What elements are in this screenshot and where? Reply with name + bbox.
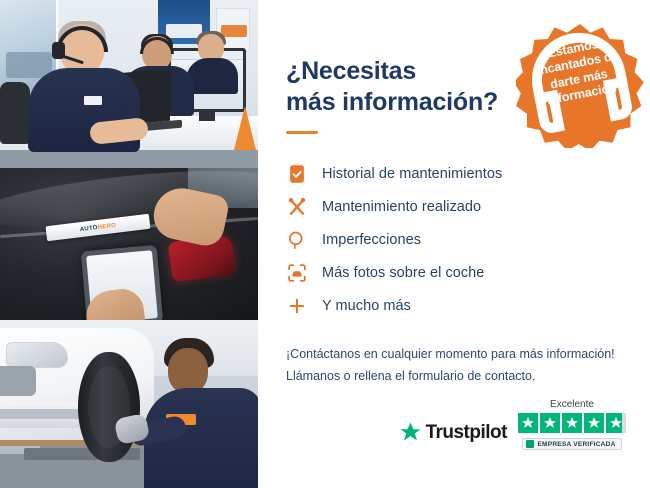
feature-list: Historial de mantenimientos Mantenimient… xyxy=(286,157,628,322)
agent-main-person xyxy=(28,24,140,150)
autohero-ruler-inspection-photo: AUTOHERO xyxy=(0,168,258,320)
promo-card: AUTOHERO ¿Necesitas xyxy=(0,0,650,488)
star-3 xyxy=(562,413,582,433)
feature-item-imperfections: Imperfecciones xyxy=(286,223,628,256)
tools-wrench-screwdriver-icon xyxy=(286,196,308,218)
ruler-brand-auto: AUTO xyxy=(79,225,98,233)
page-title: ¿Necesitas más información? xyxy=(286,56,501,117)
trustpilot-rating: Excelente xyxy=(518,399,626,450)
call-center-agents-photo xyxy=(0,0,258,168)
magnifier-icon xyxy=(286,229,308,251)
trustpilot-star-icon xyxy=(399,421,422,444)
feature-item-maintenance-history: Historial de mantenimientos xyxy=(286,157,628,190)
feature-label: Historial de mantenimientos xyxy=(322,166,502,182)
contact-line-1: ¡Contáctanos en cualquier momento para m… xyxy=(286,344,628,366)
plus-icon xyxy=(286,295,308,317)
feature-label: Más fotos sobre el coche xyxy=(322,265,484,281)
mechanic-person xyxy=(144,338,258,488)
office-chair xyxy=(0,82,30,144)
verified-label: EMPRESA VERIFICADA xyxy=(537,441,615,448)
page-title-line-2: más información? xyxy=(286,88,498,116)
trustpilot-logo[interactable]: Trustpilot xyxy=(399,421,507,450)
star-2 xyxy=(540,413,560,433)
feature-item-more-photos: Más fotos sobre el coche xyxy=(286,256,628,289)
verified-company-badge: EMPRESA VERIFICADA xyxy=(522,438,621,450)
ruler-brand-hero: HERO xyxy=(97,222,116,230)
headset-icon xyxy=(505,11,650,159)
feature-item-much-more: Y mucho más xyxy=(286,289,628,322)
photo-column: AUTOHERO xyxy=(0,0,258,488)
verified-check-icon xyxy=(526,440,534,448)
mechanic-wheel-inspection-photo xyxy=(0,320,258,488)
feature-label: Imperfecciones xyxy=(322,232,421,248)
car-grille xyxy=(0,366,36,396)
content-panel: ¿Necesitas más información? Estamos enca… xyxy=(258,0,650,488)
trustpilot-brand-label: Trustpilot xyxy=(425,422,507,444)
car-scan-icon xyxy=(286,262,308,284)
contact-text: ¡Contáctanos en cualquier momento para m… xyxy=(286,344,628,387)
office-floor xyxy=(0,150,258,168)
page-title-line-1: ¿Necesitas xyxy=(286,57,416,85)
feature-label: Y mucho más xyxy=(322,298,411,314)
title-underline-rule xyxy=(286,131,318,134)
feature-item-maintenance-done: Mantenimiento realizado xyxy=(286,190,628,223)
contact-line-2: Llámanos o rellena el formulario de cont… xyxy=(286,366,628,388)
star-5-partial xyxy=(606,413,626,433)
clipboard-check-icon xyxy=(286,163,308,185)
support-badge: Estamos encantados de darte más informac… xyxy=(516,22,644,148)
star-1 xyxy=(518,413,538,433)
car-wheel xyxy=(78,352,140,462)
rating-label: Excelente xyxy=(550,399,594,410)
star-rating xyxy=(518,413,626,433)
car-headlight xyxy=(6,342,68,368)
trustpilot-widget[interactable]: Trustpilot Excelente xyxy=(399,399,626,450)
traffic-cone xyxy=(234,106,256,150)
star-4 xyxy=(584,413,604,433)
feature-label: Mantenimiento realizado xyxy=(322,199,481,215)
